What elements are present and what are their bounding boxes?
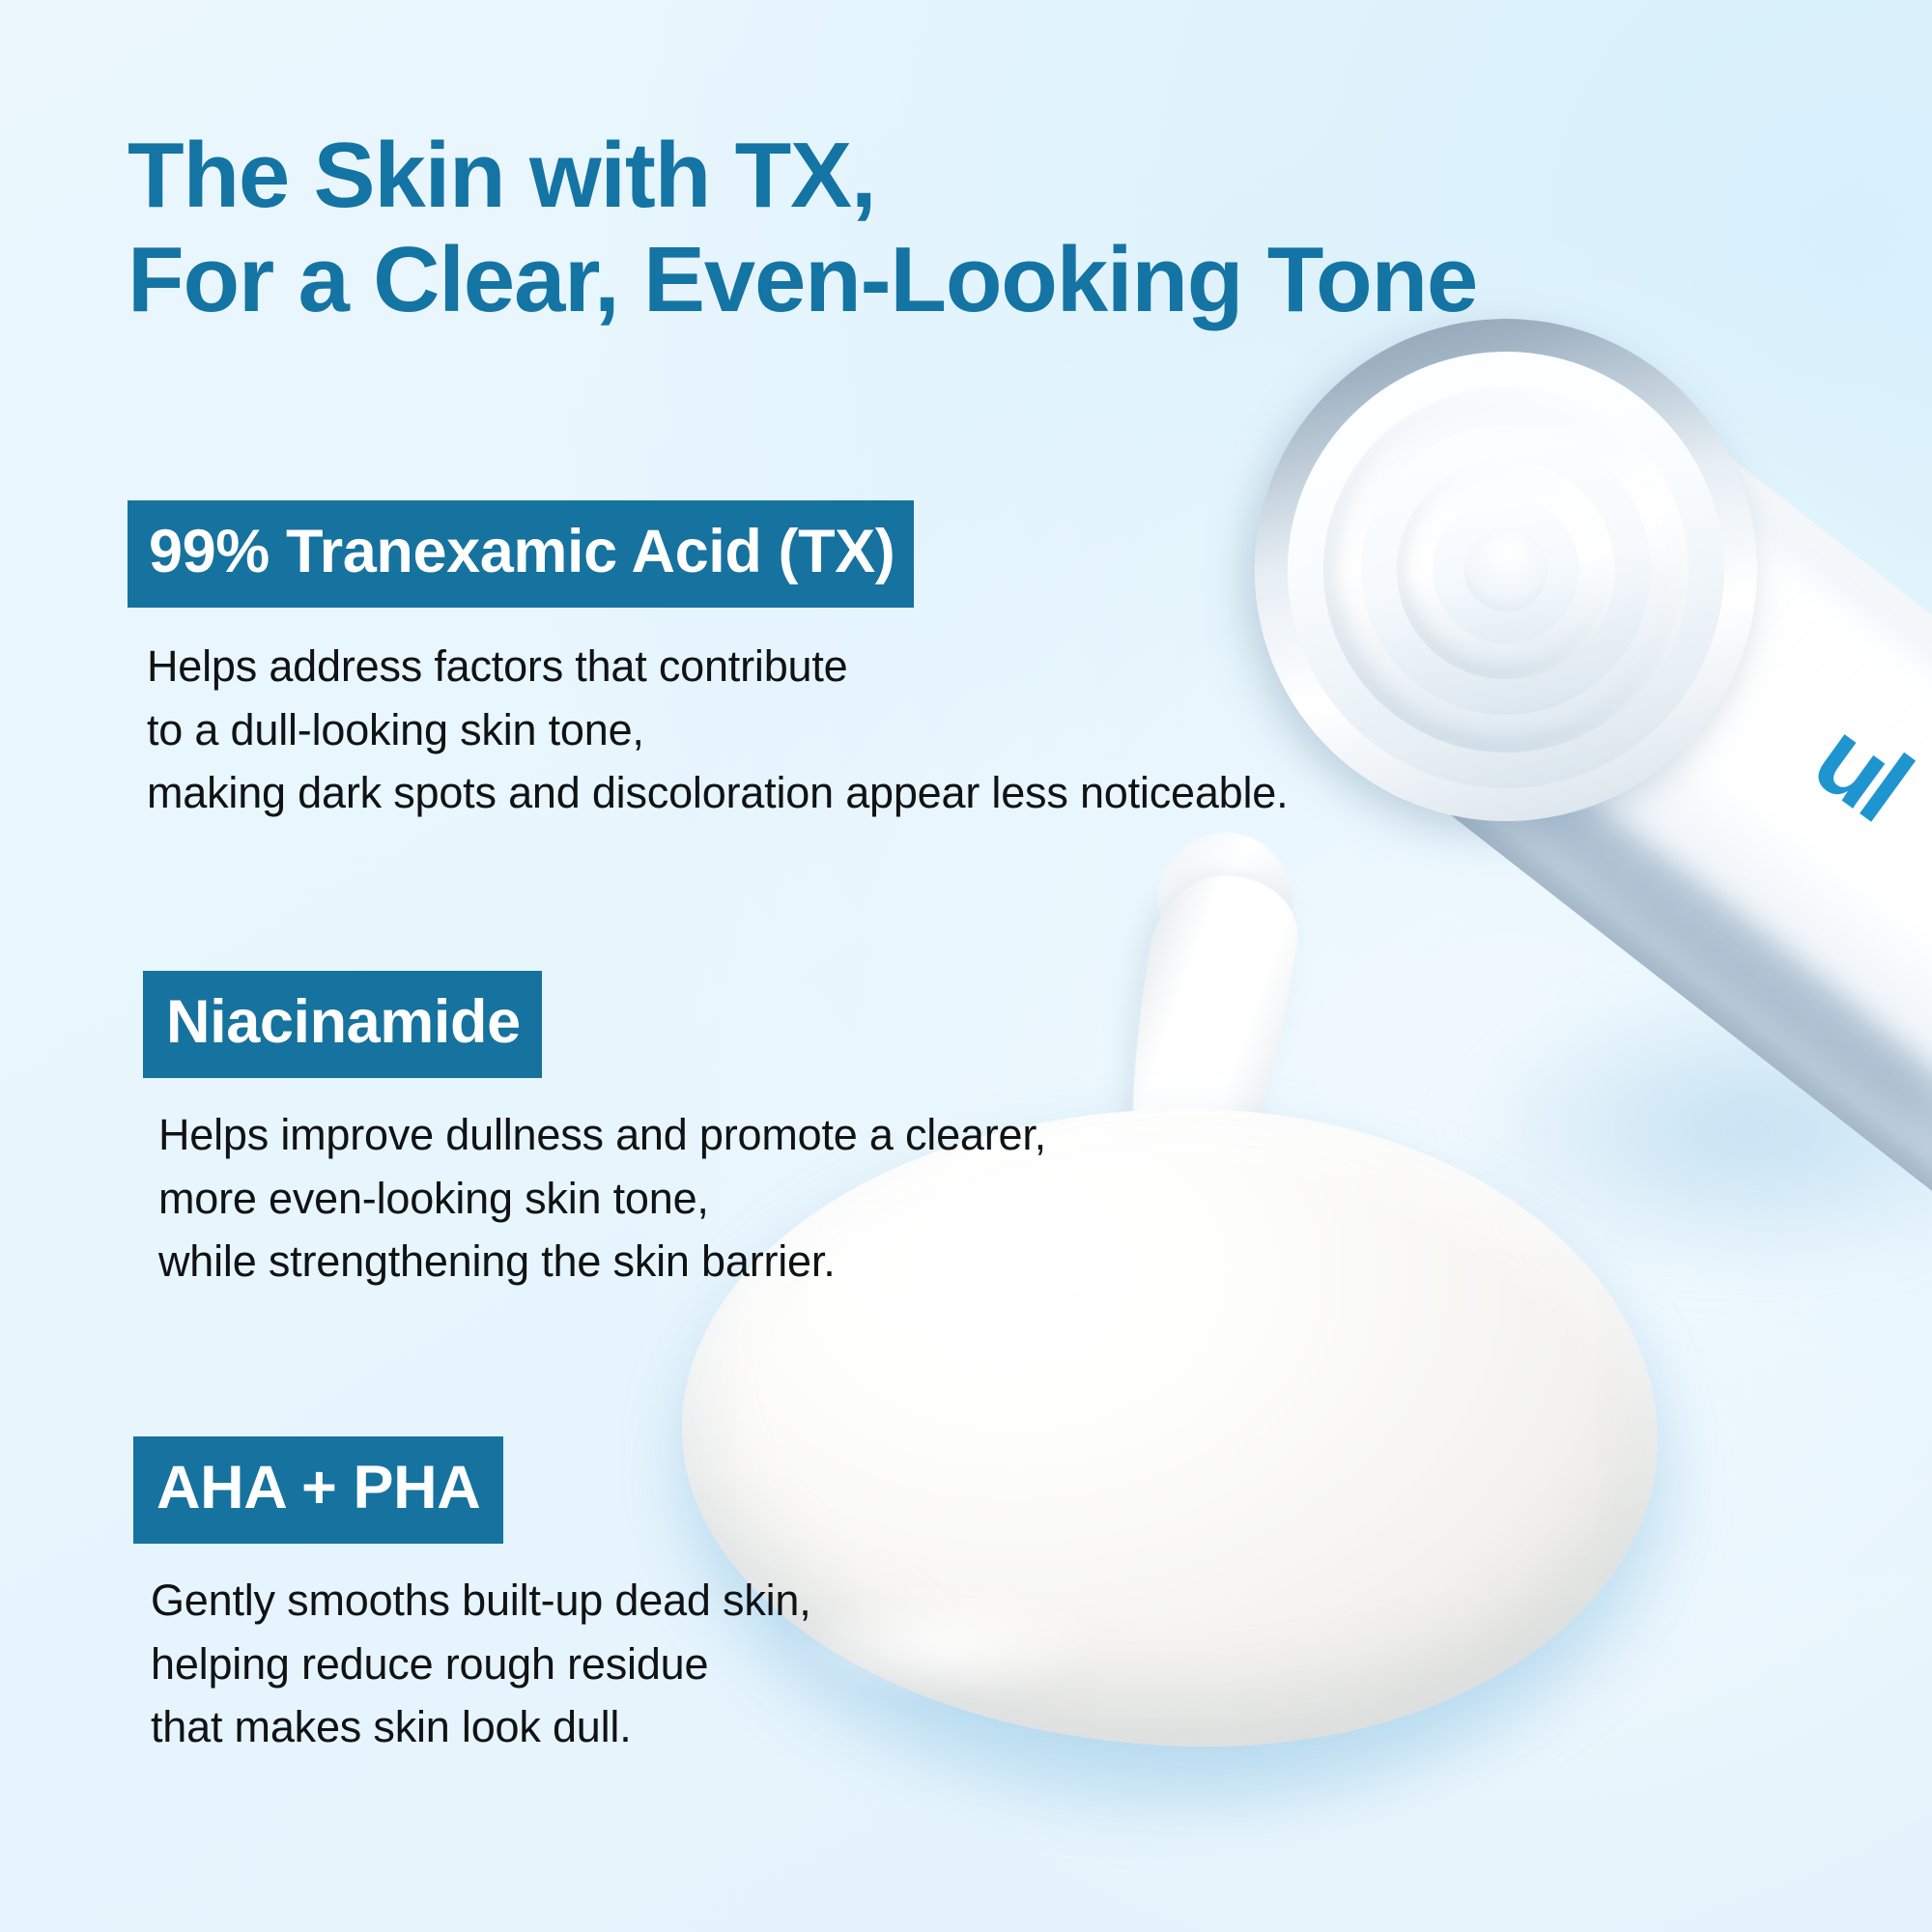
page-title: The Skin with TX, For a Clear, Even-Look…: [128, 124, 1828, 331]
ingredient-block-niacinamide: Niacinamide Helps improve dullness and p…: [143, 971, 1046, 1293]
ingredient-description-tranexamic-acid: Helps address factors that contribute to…: [147, 635, 1288, 825]
ingredient-badge-aha-pha: AHA + PHA: [133, 1436, 503, 1544]
ingredient-description-niacinamide: Helps improve dullness and promote a cle…: [158, 1103, 1046, 1293]
marketing-banner: ul The Skin with TX, For a Clear, Even-L…: [0, 0, 1932, 1932]
ingredient-block-tranexamic-acid: 99% Tranexamic Acid (TX) Helps address f…: [128, 500, 1288, 825]
ingredient-badge-tranexamic-acid: 99% Tranexamic Acid (TX): [128, 500, 914, 608]
ingredient-block-aha-pha: AHA + PHA Gently smooths built-up dead s…: [133, 1436, 811, 1759]
ingredient-badge-niacinamide: Niacinamide: [143, 971, 542, 1078]
ingredient-description-aha-pha: Gently smooths built-up dead skin, helpi…: [151, 1569, 811, 1759]
